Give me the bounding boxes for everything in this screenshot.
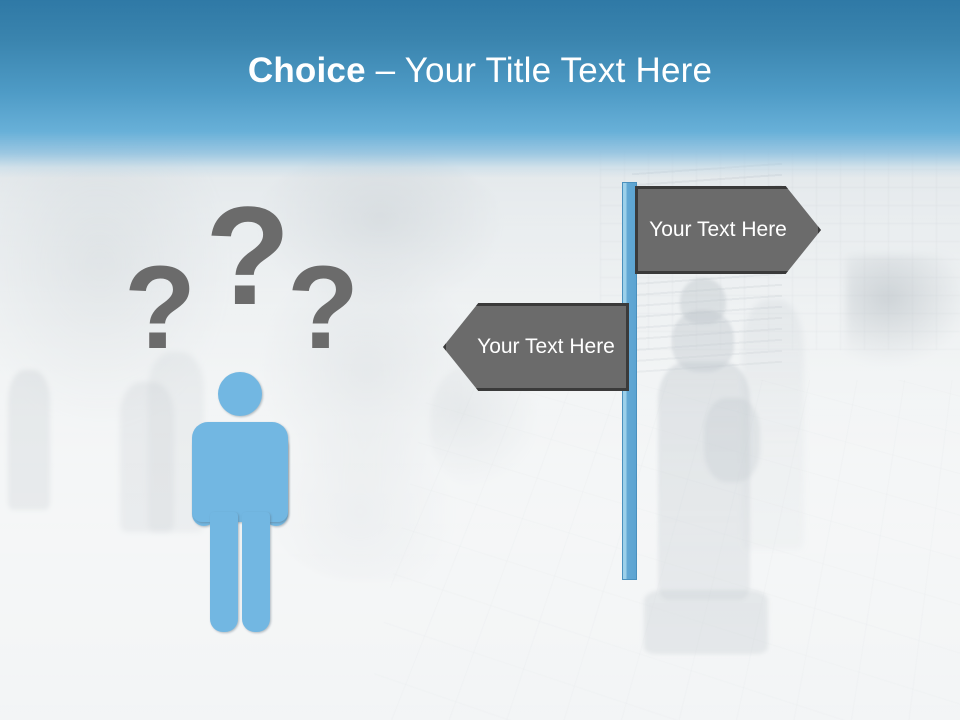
signpost-arrow-right-label: Your Text Here <box>649 216 787 244</box>
signpost-arrow-left-label: Your Text Here <box>477 333 615 361</box>
page-title-emphasis: Choice <box>248 51 366 90</box>
page-title: Choice – Your Title Text Here <box>0 50 960 92</box>
signpost-arrow-right[interactable]: Your Text Here <box>635 186 821 274</box>
question-mark-icon: ? <box>205 186 291 326</box>
person-leg-left <box>210 512 238 632</box>
page-title-remainder: – Your Title Text Here <box>366 51 712 90</box>
person-head <box>218 372 262 416</box>
question-mark-icon: ? <box>124 249 196 367</box>
person-pictogram-icon <box>180 372 298 634</box>
question-mark-icon: ? <box>287 249 359 367</box>
presentation-slide: Choice – Your Title Text Here ? ? ? Your… <box>0 0 960 720</box>
person-leg-right <box>242 512 270 632</box>
signpost-arrow-left[interactable]: Your Text Here <box>443 303 629 391</box>
person-torso <box>192 422 288 522</box>
